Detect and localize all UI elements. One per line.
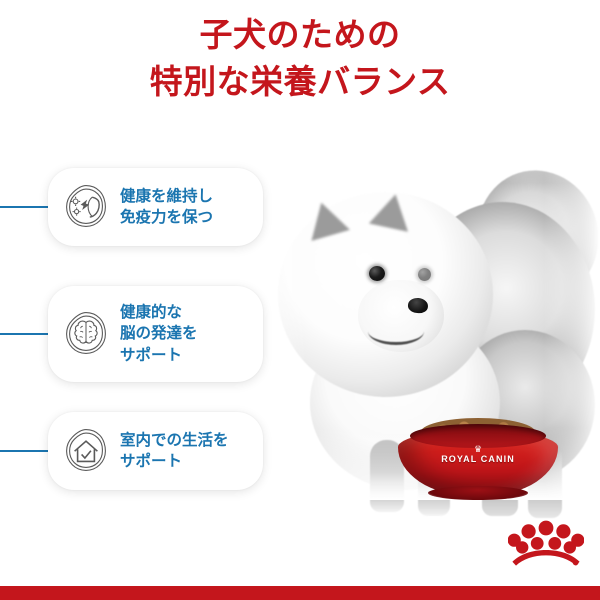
feature-label-brain: 健康的な 脳の発達を サポート: [120, 302, 198, 365]
feature-line: 室内での生活を: [120, 430, 229, 451]
feature-line: サポート: [120, 345, 198, 366]
page-title-line-1: 子犬のための: [0, 12, 600, 59]
feature-card-brain[interactable]: 健康的な 脳の発達を サポート: [48, 286, 263, 382]
feature-card-immunity[interactable]: 健康を維持し 免疫力を保つ: [48, 168, 263, 246]
feature-line: 健康的な: [120, 302, 198, 323]
puppy-mouth: [368, 318, 424, 345]
feature-line: 健康を維持し: [120, 186, 213, 207]
bowl-crown-icon: ♛: [398, 445, 558, 454]
feature-line: 脳の発達を: [120, 323, 198, 344]
feature-label-immunity: 健康を維持し 免疫力を保つ: [120, 186, 213, 228]
page-title: 子犬のための 特別な栄養バランス: [0, 12, 600, 106]
feature-line: 免疫力を保つ: [120, 207, 213, 228]
feature-line: サポート: [120, 451, 229, 472]
bowl-base: [428, 486, 528, 500]
feature-card-indoor[interactable]: 室内での生活を サポート: [48, 412, 263, 490]
dog-food-bowl: ♛ ROYAL CANIN: [398, 418, 558, 502]
product-feature-banner: 子犬のための 特別な栄養バランス ♛ ROYAL CANIN: [0, 0, 600, 600]
brain-icon: [62, 310, 110, 358]
royal-canin-crown-logo: R: [508, 516, 584, 568]
puppy-eye-right: [418, 268, 431, 281]
bottom-brand-bar: [0, 586, 600, 600]
puppy-eye-left: [369, 266, 385, 281]
feature-label-indoor: 室内での生活を サポート: [120, 430, 229, 472]
immunity-shield-icon: [62, 183, 110, 231]
house-check-icon: [62, 427, 110, 475]
page-title-line-2: 特別な栄養バランス: [0, 59, 600, 106]
bowl-brand-text: ROYAL CANIN: [398, 454, 558, 464]
